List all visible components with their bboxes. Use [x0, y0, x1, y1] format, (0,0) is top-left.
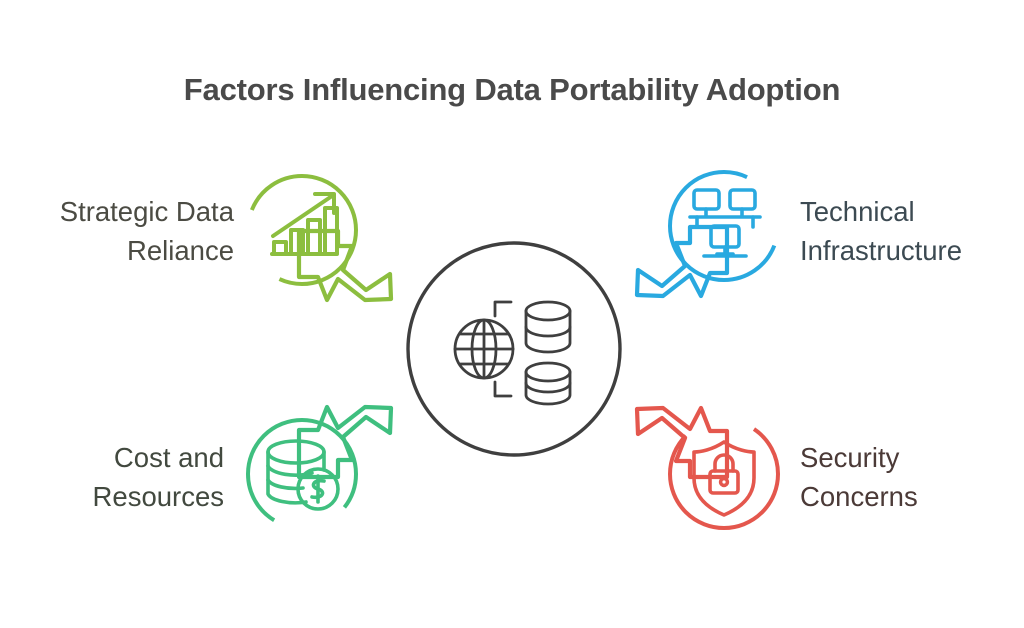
node-label-technical-infrastructure: Technical Infrastructure — [800, 192, 1024, 270]
diagram-canvas: Factors Influencing Data Portability Ado… — [0, 0, 1024, 628]
node-label-strategic-data-reliance: Strategic Data Reliance — [0, 192, 234, 270]
node-label-cost-and-resources: Cost and Resources — [0, 438, 224, 516]
node-security-concerns[interactable] — [0, 0, 1024, 628]
security-node-circle — [670, 420, 778, 528]
node-label-security-concerns: Security Concerns — [800, 438, 1024, 516]
